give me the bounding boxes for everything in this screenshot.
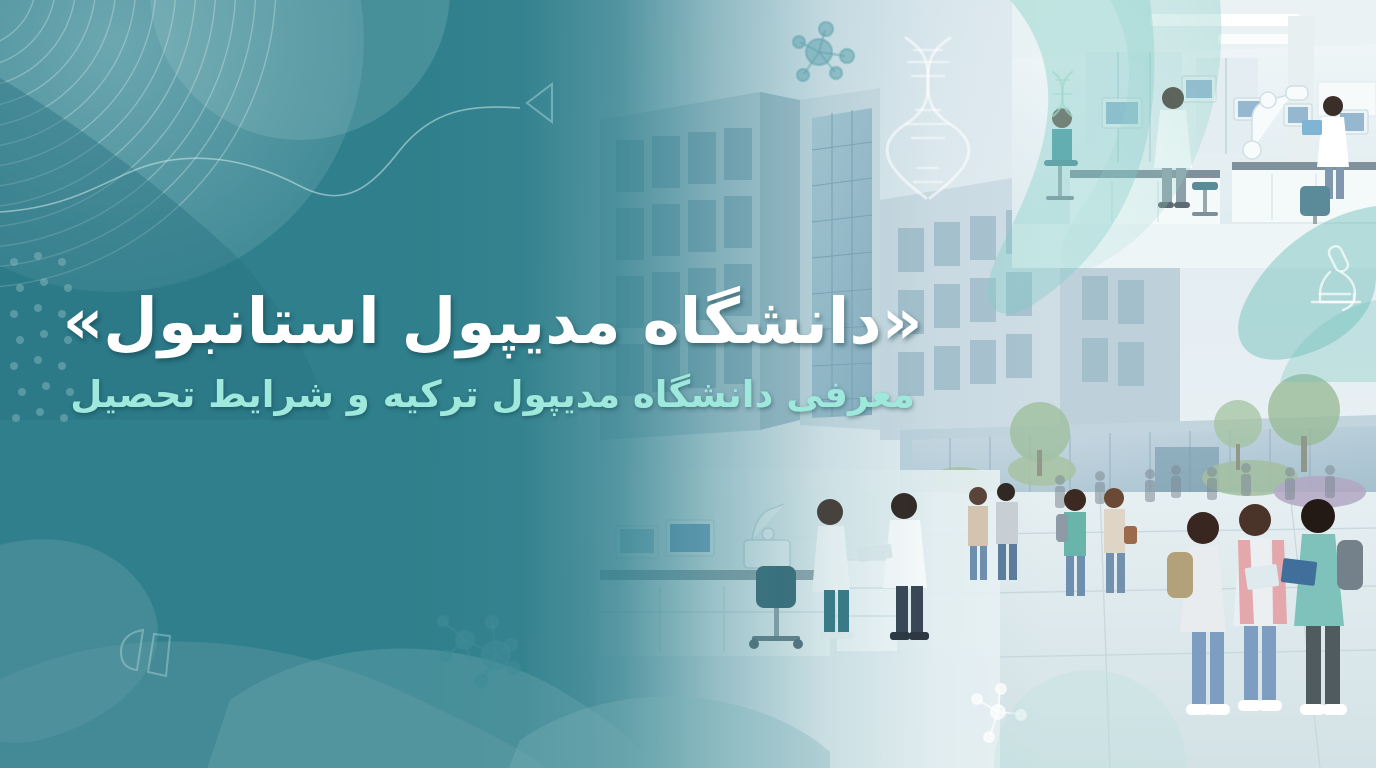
page-subtitle: معرفی دانشگاه مدیپول ترکیه و شرایط تحصیل [60,372,925,418]
headline-block: «دانشگاه مدیپول استانبول» معرفی دانشگاه … [60,286,925,419]
page-title: «دانشگاه مدیپول استانبول» [60,286,925,358]
banner-stage: «دانشگاه مدیپول استانبول» معرفی دانشگاه … [0,0,1376,768]
